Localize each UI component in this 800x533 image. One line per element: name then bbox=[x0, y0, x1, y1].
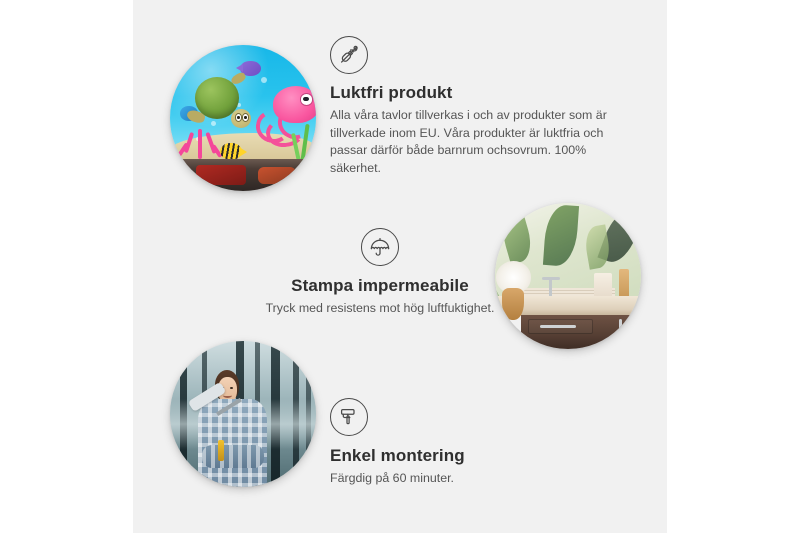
door-handle bbox=[619, 319, 622, 336]
feature-odourless: Luktfri produkt Alla våra tavlor tillver… bbox=[330, 36, 622, 177]
leaf-icon bbox=[543, 204, 579, 267]
paint-roller-icon bbox=[330, 398, 368, 436]
crossed-arms bbox=[202, 445, 264, 468]
vanity-cabinet bbox=[521, 315, 641, 349]
feature-description: Alla våra tavlor tillverkas i och av pro… bbox=[330, 107, 622, 177]
infographic-stage: Luktfri produkt Alla våra tavlor tillver… bbox=[0, 0, 800, 533]
coral-branch bbox=[198, 129, 202, 159]
room-foreground-strip bbox=[170, 159, 316, 191]
photo-painter-artwork bbox=[170, 341, 316, 487]
photo-painter[interactable] bbox=[170, 341, 316, 487]
coral-icon bbox=[180, 121, 221, 159]
turtle-eye bbox=[235, 113, 242, 121]
no-odour-perfume-icon bbox=[330, 36, 368, 74]
fish-yellow-icon bbox=[220, 143, 242, 161]
content-canvas: Luktfri produkt Alla våra tavlor tillver… bbox=[133, 0, 667, 533]
bubble-icon bbox=[261, 77, 267, 83]
tool-in-hand bbox=[218, 440, 224, 461]
feature-install: Enkel montering Färgdig på 60 minuter. bbox=[330, 398, 622, 488]
leaf-icon bbox=[498, 211, 537, 265]
drawer-handle bbox=[540, 325, 576, 328]
octopus-eye bbox=[300, 93, 313, 105]
photo-ocean[interactable] bbox=[170, 45, 316, 191]
feature-description: Färgdig på 60 minuter. bbox=[330, 470, 622, 488]
plaid-shirt bbox=[198, 399, 267, 487]
turtle-head bbox=[231, 109, 251, 128]
feature-title: Enkel montering bbox=[330, 446, 622, 466]
feature-title: Luktfri produkt bbox=[330, 83, 622, 103]
octopus-head bbox=[273, 86, 316, 123]
person-figure bbox=[193, 370, 275, 487]
photo-bathroom-artwork bbox=[495, 203, 641, 349]
smile bbox=[223, 393, 232, 398]
photo-bathroom[interactable] bbox=[495, 203, 641, 349]
umbrella-icon bbox=[361, 228, 399, 266]
eye bbox=[230, 387, 233, 389]
turtle-eye bbox=[242, 113, 249, 121]
photo-ocean-artwork bbox=[170, 45, 316, 191]
